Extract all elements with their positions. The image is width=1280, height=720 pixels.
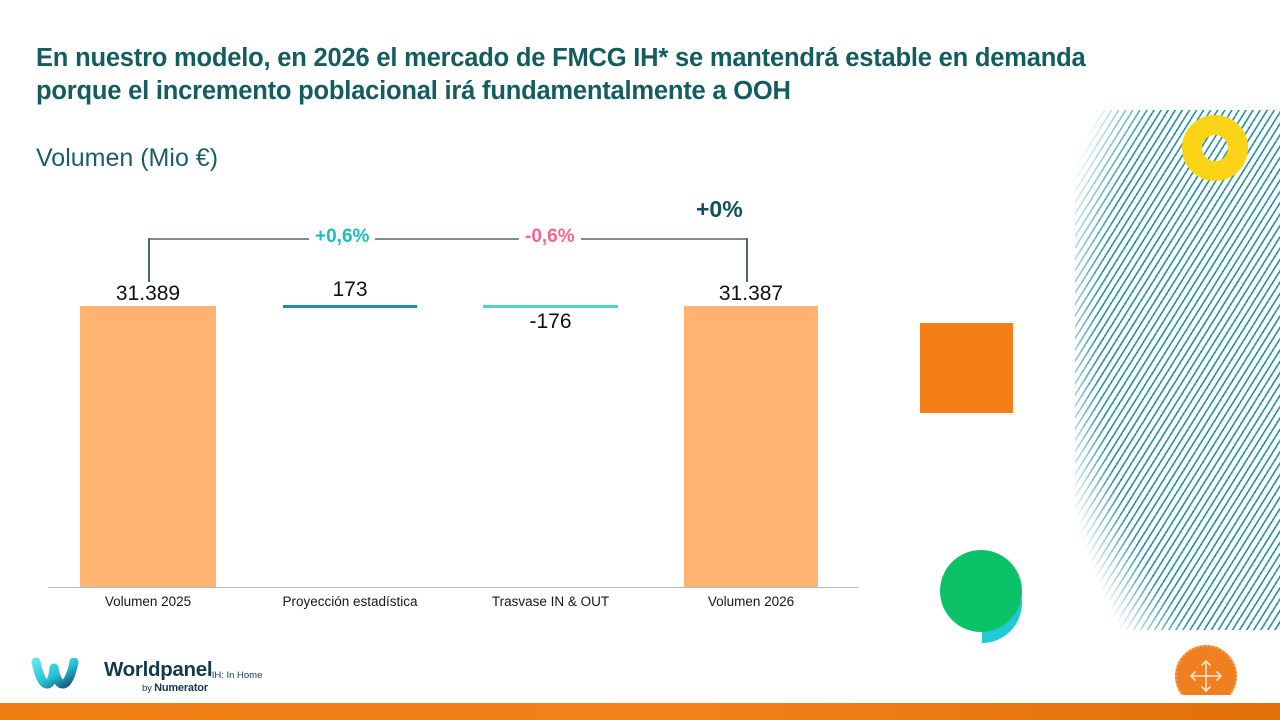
logo-byline: by Numerator xyxy=(142,682,208,694)
x-label-trasvase-in-out: Trasvase IN & OUT xyxy=(468,594,633,609)
footnote: *IH: In Home xyxy=(208,670,262,681)
waterfall-chart: +0% +0,6% -0,6% 31.389 173 -176 31.387 V… xyxy=(0,0,900,640)
worldpanel-w-icon xyxy=(30,658,92,692)
annotation-pct-negative: -0,6% xyxy=(519,226,581,248)
worldpanel-logo: Worldpanel by Numerator xyxy=(30,658,220,702)
bar-volumen-2025[interactable] xyxy=(80,306,216,587)
value-label-volumen-2025: 31.389 xyxy=(80,282,216,306)
logo-wordmark: Worldpanel xyxy=(104,658,212,682)
total-bracket-left-tick xyxy=(148,238,150,282)
logo-by-text: by xyxy=(142,683,154,694)
decorative-artwork xyxy=(900,95,1280,695)
value-label-proyeccion-estadistica: 173 xyxy=(283,278,417,302)
x-label-proyeccion-estadistica: Proyección estadística xyxy=(260,594,440,609)
footer-strip xyxy=(0,703,1280,720)
annotation-total-pct: +0% xyxy=(696,196,743,223)
orange-square-shape xyxy=(920,323,1013,413)
x-label-volumen-2025: Volumen 2025 xyxy=(68,594,228,609)
yellow-ring-shape xyxy=(1182,115,1248,181)
x-axis-line xyxy=(48,587,858,588)
hatch-pattern xyxy=(1075,110,1280,630)
total-bracket-right-tick xyxy=(746,238,748,282)
value-label-trasvase-in-out: -176 xyxy=(483,310,618,334)
slide: En nuestro modelo, en 2026 el mercado de… xyxy=(0,0,1280,720)
green-semicircle-shape xyxy=(940,550,981,632)
bar-volumen-2026[interactable] xyxy=(684,306,818,587)
annotation-pct-positive: +0,6% xyxy=(309,226,375,248)
logo-parent-text: Numerator xyxy=(154,682,208,694)
move-arrows-icon[interactable] xyxy=(1175,645,1237,695)
x-label-volumen-2026: Volumen 2026 xyxy=(671,594,831,609)
bar-proyeccion-estadistica[interactable] xyxy=(283,305,417,308)
value-label-volumen-2026: 31.387 xyxy=(684,282,818,306)
total-bracket-line xyxy=(148,238,748,240)
bar-trasvase-in-out[interactable] xyxy=(483,305,618,308)
